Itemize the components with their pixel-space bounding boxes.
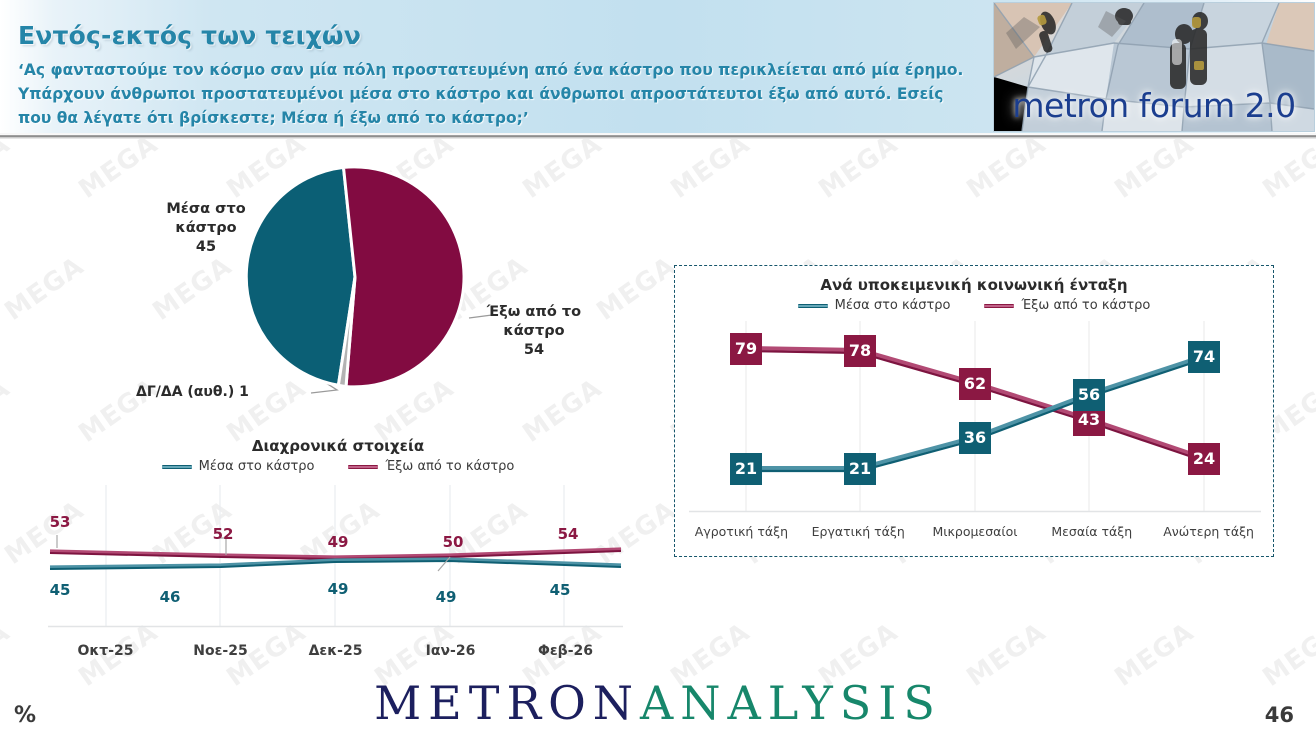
social-legend-entry-inside: Μέσα στο κάστρο bbox=[798, 298, 951, 313]
legend-label-outside: Έξω από το κάστρο bbox=[385, 459, 514, 474]
watermark-text: MEGA bbox=[591, 251, 681, 327]
watermark-text: MEGA bbox=[1109, 129, 1199, 205]
watermark-text: MEGA bbox=[0, 251, 90, 327]
brand-analysis: ANALYSIS bbox=[640, 676, 942, 730]
timeseries-tick-2: Δεκ-25 bbox=[278, 643, 393, 659]
timeseries-value-maroon-0: 53 bbox=[50, 513, 71, 531]
timeseries-value-teal-0: 45 bbox=[50, 581, 71, 599]
pie-slice-inside bbox=[246, 167, 355, 385]
pie-label-dk: ΔΓ/ΔΑ (αυθ.) 1 bbox=[136, 383, 326, 402]
pie-label-inside: Μέσα στο κάστρο 45 bbox=[150, 200, 262, 257]
timeseries-value-teal-4: 45 bbox=[550, 581, 571, 599]
timeseries-tick-1: Νοε-25 bbox=[163, 643, 278, 659]
social-plot-area: 79 78 62 43 24 21 21 36 56 74 bbox=[689, 321, 1261, 519]
pie-chart: Μέσα στο κάστρο 45 Έξω από το κάστρο 54 … bbox=[140, 158, 600, 428]
timeseries-value-teal-1: 46 bbox=[160, 588, 181, 606]
pie-label-inside-line2: κάστρο bbox=[150, 219, 262, 238]
social-value-maroon-2: 62 bbox=[959, 368, 991, 400]
timeseries-value-maroon-4: 54 bbox=[558, 525, 579, 543]
legend-entry-inside: Μέσα στο κάστρο bbox=[162, 459, 315, 474]
timeseries-tick-4: Φεβ-26 bbox=[508, 643, 623, 659]
header-divider bbox=[0, 133, 1316, 139]
social-value-teal-3: 56 bbox=[1073, 379, 1105, 411]
social-class-chart: Ανά υποκειμενική κοινωνική ένταξη Μέσα σ… bbox=[674, 265, 1274, 557]
social-tick-2: Μικρομεσαίοι bbox=[917, 524, 1034, 539]
watermark-text: MEGA bbox=[961, 129, 1051, 205]
legend-swatch-maroon-icon bbox=[348, 465, 378, 469]
timeseries-title: Διαχρονικά στοιχεία bbox=[48, 437, 628, 455]
legend-entry-outside: Έξω από το κάστρο bbox=[348, 459, 514, 474]
social-tick-3: Μεσαία τάξη bbox=[1033, 524, 1150, 539]
pie-label-inside-line1: Μέσα στο bbox=[150, 200, 262, 219]
page-title: Εντός-εκτός των τειχών bbox=[18, 21, 361, 50]
watermark-text: MEGA bbox=[813, 129, 903, 205]
pie-slice-outside bbox=[344, 167, 465, 387]
social-legend-swatch-teal-icon bbox=[798, 304, 828, 308]
timeseries-value-maroon-2: 49 bbox=[328, 533, 349, 551]
timeseries-tick-3: Ιαν-26 bbox=[393, 643, 508, 659]
forum-logo-label: metron forum 2.0 bbox=[994, 86, 1314, 125]
pie-label-inside-value: 45 bbox=[150, 238, 262, 257]
page-subtitle: ‘Ας φανταστούμε τον κόσμο σαν μία πόλη π… bbox=[18, 58, 968, 130]
social-chart-legend: Μέσα στο κάστρο Έξω από το κάστρο bbox=[675, 298, 1273, 313]
timeseries-chart: Διαχρονικά στοιχεία Μέσα στο κάστρο Έξω … bbox=[48, 437, 628, 669]
timeseries-plot-svg bbox=[48, 485, 623, 633]
timeseries-plot-area: 53 52 49 50 54 45 46 49 49 45 bbox=[48, 485, 623, 633]
social-legend-label-inside: Μέσα στο κάστρο bbox=[835, 298, 951, 313]
social-value-maroon-0: 79 bbox=[730, 333, 762, 365]
brand-metron: METRON bbox=[374, 676, 640, 730]
timeseries-value-maroon-1: 52 bbox=[213, 525, 234, 543]
timeseries-tick-0: Οκτ-25 bbox=[48, 643, 163, 659]
timeseries-legend: Μέσα στο κάστρο Έξω από το κάστρο bbox=[48, 459, 628, 474]
timeseries-x-axis: Οκτ-25 Νοε-25 Δεκ-25 Ιαν-26 Φεβ-26 bbox=[48, 643, 623, 659]
pie-label-outside: Έξω από το κάστρο 54 bbox=[470, 303, 598, 360]
social-value-teal-0: 21 bbox=[730, 453, 762, 485]
metron-forum-logo: metron forum 2.0 bbox=[993, 2, 1315, 132]
metron-analysis-logo: METRONANALYSIS bbox=[0, 676, 1316, 730]
watermark-text: MEGA bbox=[1257, 129, 1316, 205]
social-value-maroon-4: 24 bbox=[1188, 443, 1220, 475]
pie-label-outside-line1: Έξω από το bbox=[470, 303, 598, 322]
social-legend-entry-outside: Έξω από το κάστρο bbox=[984, 298, 1150, 313]
social-legend-label-outside: Έξω από το κάστρο bbox=[1021, 298, 1150, 313]
social-value-teal-4: 74 bbox=[1188, 341, 1220, 373]
timeseries-value-maroon-3: 50 bbox=[443, 533, 464, 551]
social-chart-title: Ανά υποκειμενική κοινωνική ένταξη bbox=[675, 276, 1273, 294]
watermark-text: MEGA bbox=[665, 129, 755, 205]
social-legend-swatch-maroon-icon bbox=[984, 304, 1014, 308]
timeseries-value-teal-3: 49 bbox=[436, 588, 457, 606]
watermark-text: MEGA bbox=[0, 373, 16, 449]
social-x-axis: Αγροτική τάξη Εργατική τάξη Μικρομεσαίοι… bbox=[683, 524, 1267, 539]
legend-label-inside: Μέσα στο κάστρο bbox=[199, 459, 315, 474]
pie-label-outside-value: 54 bbox=[470, 341, 598, 360]
pie-label-outside-line2: κάστρο bbox=[470, 322, 598, 341]
pie-slices bbox=[246, 167, 464, 387]
social-tick-1: Εργατική τάξη bbox=[800, 524, 917, 539]
social-tick-4: Ανώτερη τάξη bbox=[1150, 524, 1267, 539]
social-value-maroon-1: 78 bbox=[844, 335, 876, 367]
legend-swatch-teal-icon bbox=[162, 465, 192, 469]
social-tick-0: Αγροτική τάξη bbox=[683, 524, 800, 539]
social-value-teal-2: 36 bbox=[959, 422, 991, 454]
social-value-teal-1: 21 bbox=[844, 453, 876, 485]
social-plot-svg bbox=[689, 321, 1261, 519]
watermark-text: MEGA bbox=[0, 129, 16, 205]
timeseries-value-teal-2: 49 bbox=[328, 580, 349, 598]
